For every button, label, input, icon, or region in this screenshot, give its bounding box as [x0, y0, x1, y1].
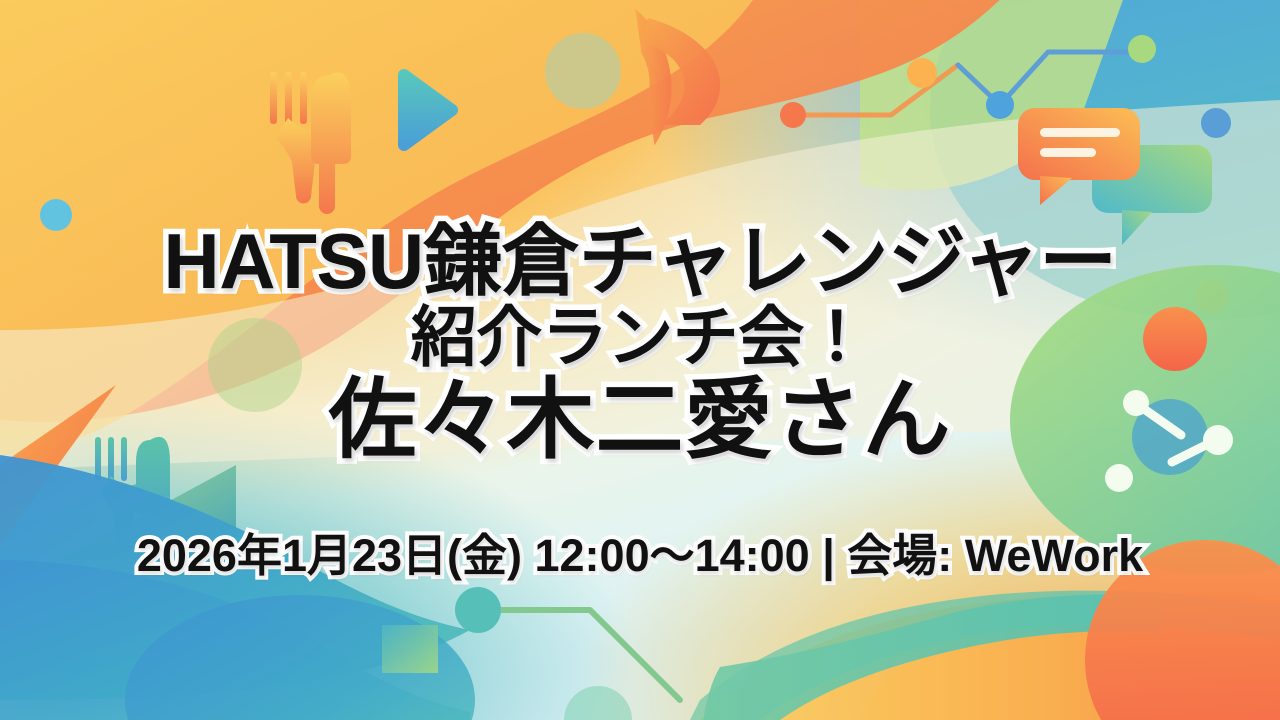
- dot-blue-right: [1201, 108, 1231, 138]
- pin-line-connector-bottom: [455, 587, 680, 700]
- circle-green-soft-2: [208, 318, 302, 412]
- event-banner: HATSU鎌倉チャレンジャー 紹介ランチ会！ 佐々木二愛さん 2026年1月23…: [0, 0, 1280, 720]
- circle-orange-small-right: [1143, 307, 1207, 371]
- circle-orange-large: [1085, 540, 1280, 720]
- background-decoration-layer: [0, 0, 1280, 720]
- circle-green-soft: [545, 33, 621, 109]
- wave-band-blue: [0, 455, 475, 720]
- square-green-accent: [382, 625, 438, 673]
- dot-teal-bottom: [564, 686, 632, 720]
